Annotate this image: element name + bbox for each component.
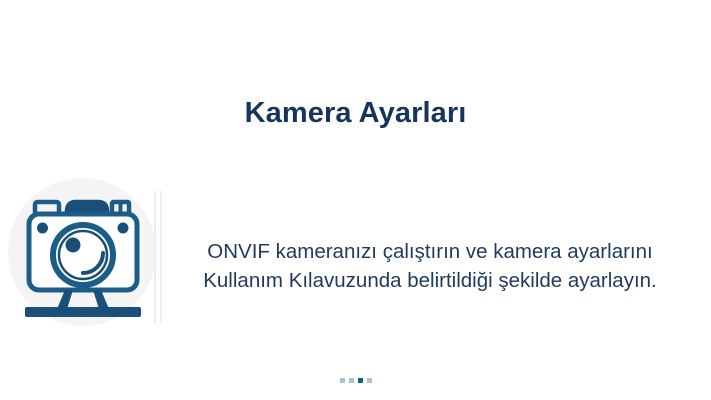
pagination-dot-3[interactable]	[358, 378, 363, 383]
icon-block	[3, 178, 155, 328]
page-title: Kamera Ayarları	[0, 97, 711, 130]
body-text: ONVIF kameranızı çalıştırın ve kamera ay…	[180, 237, 680, 295]
pagination-dot-4[interactable]	[367, 378, 372, 383]
pagination-dot-1[interactable]	[340, 378, 345, 383]
divider-line-left	[154, 191, 156, 323]
pagination-dots[interactable]	[0, 378, 711, 383]
vertical-divider	[154, 191, 163, 323]
camera-icon	[15, 185, 151, 321]
content-row: ONVIF kameranızı çalıştırın ve kamera ay…	[0, 178, 711, 328]
slide-canvas: Kamera Ayarları	[0, 0, 711, 400]
divider-line-right	[160, 191, 162, 323]
pagination-dot-2[interactable]	[349, 378, 354, 383]
